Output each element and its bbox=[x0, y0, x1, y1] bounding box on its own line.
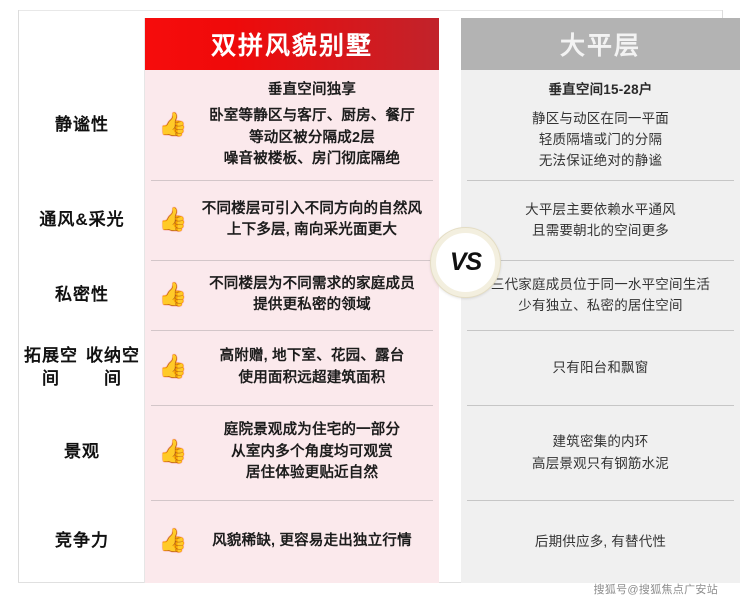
column-flat-body: 垂直空间15-28户静区与动区在同一平面轻质隔墙或门的分隔无法保证绝对的静谧大平… bbox=[461, 70, 740, 583]
villa-cell-line: 风貌稀缺, 更容易走出独立行情 bbox=[193, 531, 431, 552]
villa-cell: 👍垂直空间独享卧室等静区与客厅、厨房、餐厅等动区被分隔成2层噪音被楼板、房门彻底… bbox=[145, 70, 439, 180]
villa-cell-text: 风貌稀缺, 更容易走出独立行情 bbox=[193, 531, 431, 552]
villa-cell-text: 不同楼层为不同需求的家庭成员提供更私密的领域 bbox=[193, 274, 431, 317]
row-label: 静谧性 bbox=[20, 70, 144, 180]
thumbs-up-icon: 👍 bbox=[153, 530, 193, 553]
row-label: 通风&采光 bbox=[20, 180, 144, 260]
villa-cell-line: 提供更私密的领域 bbox=[193, 295, 431, 316]
row-label: 竞争力 bbox=[20, 500, 144, 583]
villa-cell-line: 等动区被分隔成2层 bbox=[193, 128, 431, 149]
flat-cell: 垂直空间15-28户静区与动区在同一平面轻质隔墙或门的分隔无法保证绝对的静谧 bbox=[461, 70, 740, 180]
row-label-header-spacer bbox=[20, 18, 144, 70]
villa-cell-line: 噪音被楼板、房门彻底隔绝 bbox=[193, 149, 431, 170]
flat-cell-line: 少有独立、私密的居住空间 bbox=[469, 295, 732, 316]
row-label-list: 静谧性通风&采光私密性拓展空间收纳空间景观竞争力 bbox=[20, 70, 144, 583]
comparison-infographic: 静谧性通风&采光私密性拓展空间收纳空间景观竞争力 双拼风貌别墅 👍垂直空间独享卧… bbox=[0, 0, 740, 602]
flat-cell-line: 且需要朝北的空间更多 bbox=[469, 220, 732, 241]
row-label: 景观 bbox=[20, 405, 144, 500]
column-gap bbox=[439, 18, 461, 583]
row-label-line: 收纳空间 bbox=[82, 345, 144, 391]
frame-border-top bbox=[18, 10, 722, 11]
flat-cell: 只有阳台和飘窗 bbox=[461, 330, 740, 405]
villa-cell: 👍不同楼层可引入不同方向的自然风上下多层, 南向采光面更大 bbox=[145, 180, 439, 260]
villa-cell-line: 不同楼层为不同需求的家庭成员 bbox=[193, 274, 431, 295]
flat-cell-line: 轻质隔墙或门的分隔 bbox=[469, 129, 732, 150]
column-header-villa: 双拼风貌别墅 bbox=[145, 18, 439, 70]
thumbs-up-icon: 👍 bbox=[153, 209, 193, 232]
vs-badge: VS bbox=[431, 228, 500, 297]
villa-cell-line: 卧室等静区与客厅、厨房、餐厅 bbox=[193, 106, 431, 127]
villa-cell: 👍不同楼层为不同需求的家庭成员提供更私密的领域 bbox=[145, 260, 439, 330]
column-villa-body: 👍垂直空间独享卧室等静区与客厅、厨房、餐厅等动区被分隔成2层噪音被楼板、房门彻底… bbox=[145, 70, 439, 583]
row-label-line: 拓展空间 bbox=[20, 345, 82, 391]
villa-cell-line: 上下多层, 南向采光面更大 bbox=[193, 220, 431, 241]
flat-cell-text: 三代家庭成员位于同一水平空间生活少有独立、私密的居住空间 bbox=[469, 274, 732, 316]
villa-cell-text: 垂直空间独享卧室等静区与客厅、厨房、餐厅等动区被分隔成2层噪音被楼板、房门彻底隔… bbox=[193, 80, 431, 171]
villa-cell-text: 高附赠, 地下室、花园、露台使用面积远超建筑面积 bbox=[193, 346, 431, 389]
thumbs-up-icon: 👍 bbox=[153, 114, 193, 137]
watermark: 搜狐号@搜狐焦点广安站 bbox=[594, 581, 718, 597]
flat-cell-line: 后期供应多, 有替代性 bbox=[469, 531, 732, 552]
villa-cell-line: 高附赠, 地下室、花园、露台 bbox=[193, 346, 431, 367]
flat-cell-text: 只有阳台和飘窗 bbox=[469, 357, 732, 378]
flat-cell-text: 建筑密集的内环高层景观只有钢筋水泥 bbox=[469, 431, 732, 473]
thumbs-up-icon: 👍 bbox=[153, 441, 193, 464]
flat-cell-text: 大平层主要依赖水平通风且需要朝北的空间更多 bbox=[469, 199, 732, 241]
villa-cell-text: 庭院景观成为住宅的一部分从室内多个角度均可观赏居住体验更贴近自然 bbox=[193, 420, 431, 484]
villa-cell-line: 庭院景观成为住宅的一部分 bbox=[193, 420, 431, 441]
flat-cell-text: 后期供应多, 有替代性 bbox=[469, 531, 732, 552]
row-label-column: 静谧性通风&采光私密性拓展空间收纳空间景观竞争力 bbox=[20, 18, 144, 583]
villa-cell-title: 垂直空间独享 bbox=[193, 80, 431, 101]
row-label: 拓展空间收纳空间 bbox=[20, 330, 144, 405]
column-villa: 双拼风貌别墅 👍垂直空间独享卧室等静区与客厅、厨房、餐厅等动区被分隔成2层噪音被… bbox=[145, 18, 439, 583]
row-label-line: 静谧性 bbox=[55, 114, 109, 137]
flat-cell-text: 垂直空间15-28户静区与动区在同一平面轻质隔墙或门的分隔无法保证绝对的静谧 bbox=[469, 79, 732, 171]
flat-cell-line: 高层景观只有钢筋水泥 bbox=[469, 453, 732, 474]
row-label-line: 通风&采光 bbox=[39, 209, 124, 232]
row-label-line: 景观 bbox=[64, 441, 100, 464]
villa-cell: 👍庭院景观成为住宅的一部分从室内多个角度均可观赏居住体验更贴近自然 bbox=[145, 405, 439, 500]
villa-cell-line: 从室内多个角度均可观赏 bbox=[193, 442, 431, 463]
villa-cell: 👍高附赠, 地下室、花园、露台使用面积远超建筑面积 bbox=[145, 330, 439, 405]
villa-cell-line: 使用面积远超建筑面积 bbox=[193, 368, 431, 389]
villa-cell: 👍风貌稀缺, 更容易走出独立行情 bbox=[145, 500, 439, 583]
flat-cell: 三代家庭成员位于同一水平空间生活少有独立、私密的居住空间 bbox=[461, 260, 740, 330]
villa-cell-line: 居住体验更贴近自然 bbox=[193, 463, 431, 484]
flat-cell-line: 大平层主要依赖水平通风 bbox=[469, 199, 732, 220]
column-flat: 大平层 垂直空间15-28户静区与动区在同一平面轻质隔墙或门的分隔无法保证绝对的… bbox=[461, 18, 740, 583]
flat-cell-line: 建筑密集的内环 bbox=[469, 431, 732, 452]
flat-cell-line: 三代家庭成员位于同一水平空间生活 bbox=[469, 274, 732, 295]
row-label-line: 私密性 bbox=[55, 284, 109, 307]
flat-cell: 大平层主要依赖水平通风且需要朝北的空间更多 bbox=[461, 180, 740, 260]
frame-border-left bbox=[18, 10, 19, 582]
flat-cell: 后期供应多, 有替代性 bbox=[461, 500, 740, 583]
row-label: 私密性 bbox=[20, 260, 144, 330]
thumbs-up-icon: 👍 bbox=[153, 284, 193, 307]
villa-cell-line: 不同楼层可引入不同方向的自然风 bbox=[193, 199, 431, 220]
thumbs-up-icon: 👍 bbox=[153, 356, 193, 379]
flat-cell: 建筑密集的内环高层景观只有钢筋水泥 bbox=[461, 405, 740, 500]
column-header-flat: 大平层 bbox=[461, 18, 740, 70]
flat-cell-line: 无法保证绝对的静谧 bbox=[469, 150, 732, 171]
comparison-table: 静谧性通风&采光私密性拓展空间收纳空间景观竞争力 双拼风貌别墅 👍垂直空间独享卧… bbox=[20, 18, 720, 583]
flat-cell-line: 静区与动区在同一平面 bbox=[469, 108, 732, 129]
flat-cell-title: 垂直空间15-28户 bbox=[469, 79, 732, 100]
row-label-line: 竞争力 bbox=[55, 530, 109, 553]
flat-cell-line: 只有阳台和飘窗 bbox=[469, 357, 732, 378]
villa-cell-text: 不同楼层可引入不同方向的自然风上下多层, 南向采光面更大 bbox=[193, 199, 431, 242]
